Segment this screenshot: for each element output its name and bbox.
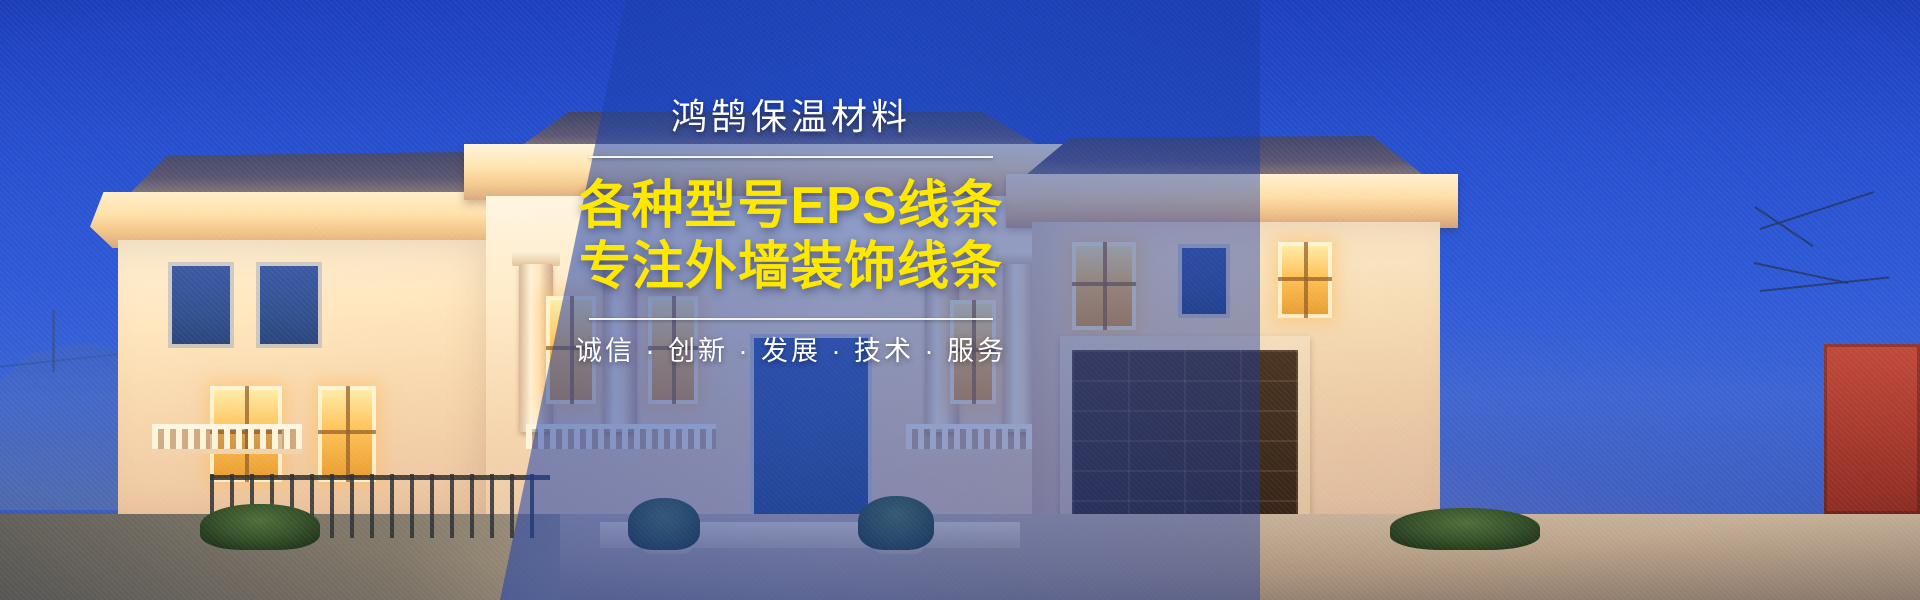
- brand-name: 鸿鹄保温材料: [556, 96, 1026, 138]
- left-wing-roof: [100, 152, 520, 198]
- headline: 各种型号EPS线条 专注外墙装饰线条: [556, 176, 1026, 298]
- balustrade: [152, 424, 302, 454]
- hero-banner: 鸿鹄保温材料 各种型号EPS线条 专注外墙装饰线条 诚信 · 创新 · 发展 ·…: [0, 0, 1920, 600]
- window-dark: [1178, 244, 1230, 318]
- banner-copy: 鸿鹄保温材料 各种型号EPS线条 专注外墙装饰线条 诚信 · 创新 · 发展 ·…: [556, 96, 1026, 368]
- headline-line-1: 各种型号EPS线条: [556, 176, 1026, 237]
- window-lit: [1072, 242, 1136, 330]
- garage-door: [1072, 350, 1298, 532]
- window-dark: [168, 262, 234, 348]
- shrub: [858, 496, 934, 550]
- divider-top: [589, 156, 993, 158]
- window-lit: [1278, 242, 1332, 318]
- balustrade: [526, 424, 716, 454]
- window-lit: [318, 386, 376, 482]
- shrub: [628, 498, 700, 550]
- divider-bottom: [589, 318, 993, 320]
- tagline: 诚信 · 创新 · 发展 · 技术 · 服务: [556, 335, 1026, 367]
- headline-line-2: 专注外墙装饰线条: [556, 237, 1026, 298]
- balustrade: [906, 424, 1036, 454]
- red-container: [1824, 344, 1920, 514]
- shrub: [200, 504, 320, 550]
- right-wing-cornice: [1006, 174, 1458, 228]
- iron-fence-rail: [210, 475, 550, 480]
- antenna-mast: [52, 310, 55, 372]
- window-dark: [256, 262, 322, 348]
- shrub: [1390, 508, 1540, 550]
